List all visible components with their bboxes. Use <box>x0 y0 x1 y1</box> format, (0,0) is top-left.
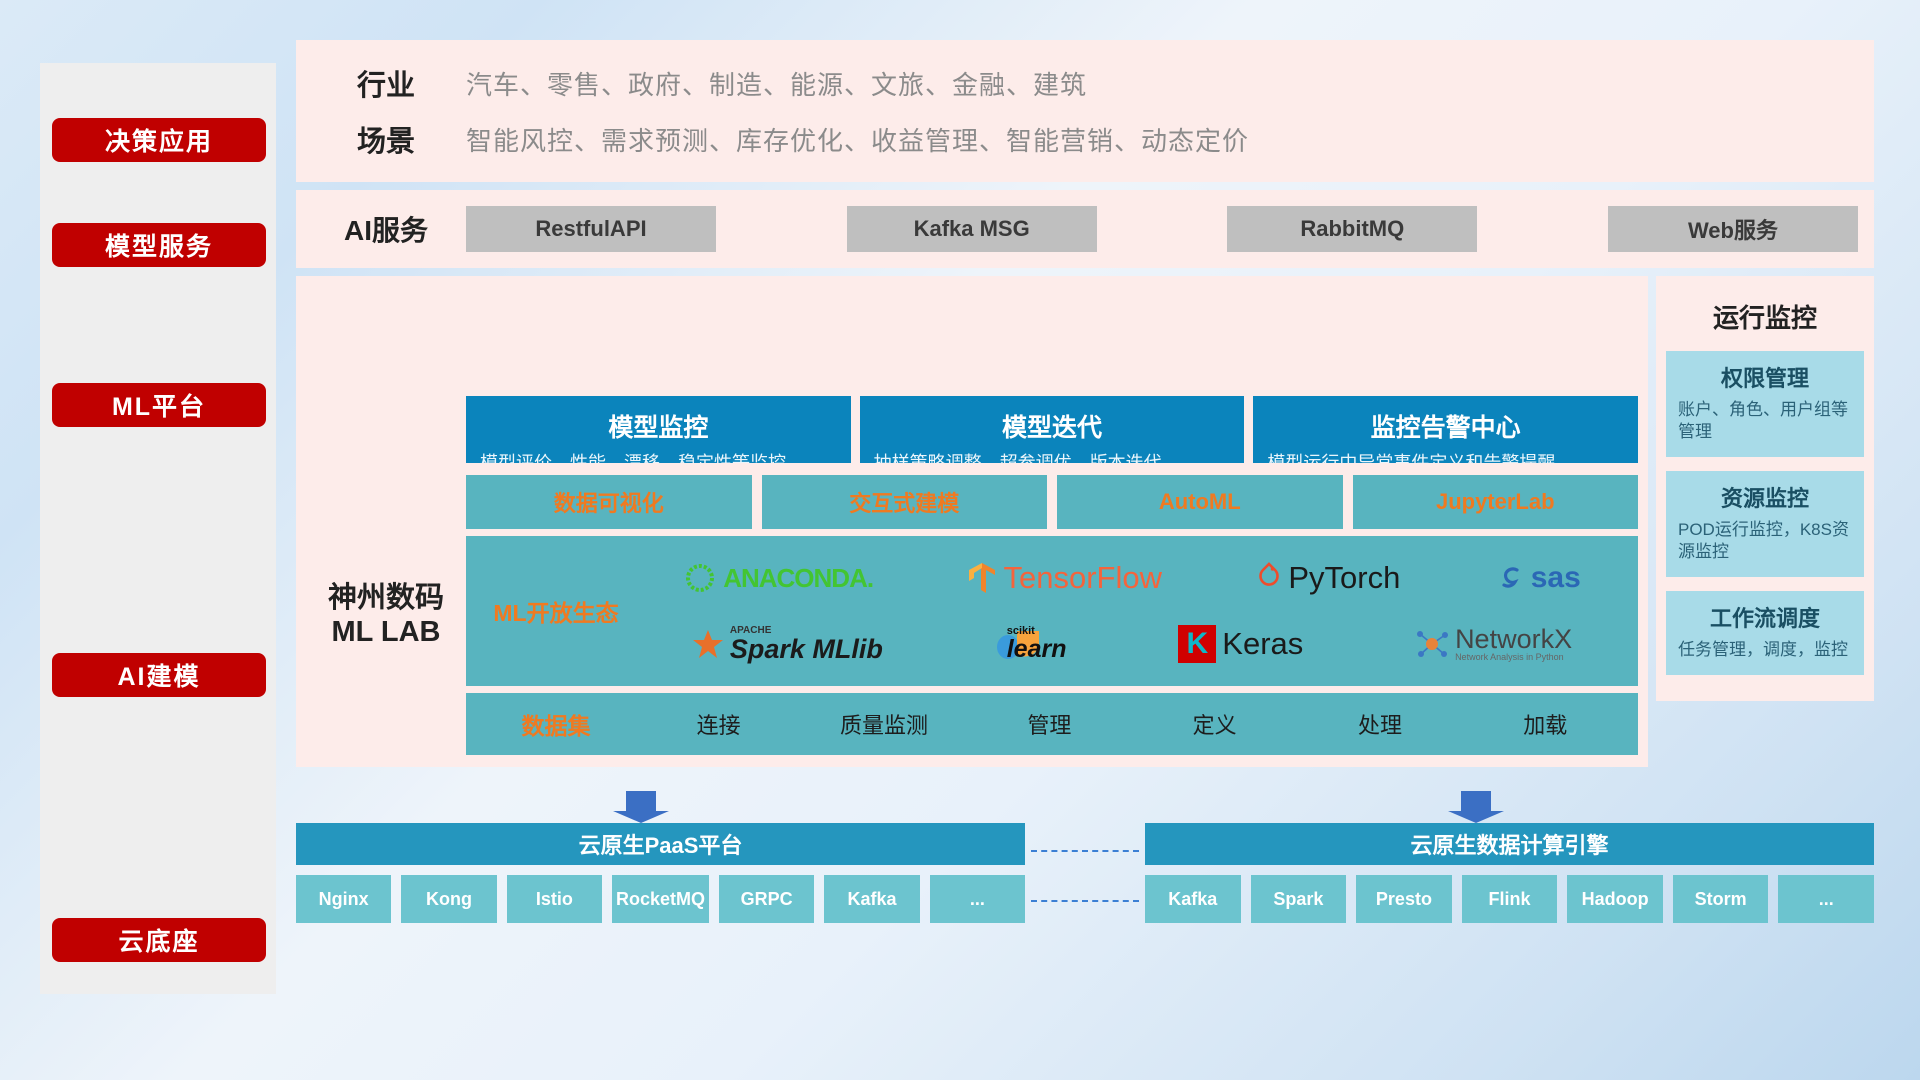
chip-hadoop[interactable]: Hadoop <box>1567 875 1663 923</box>
cloud-bar-row: 云原生PaaS平台 云原生数据计算引擎 <box>296 823 1874 865</box>
chip-more-right[interactable]: ... <box>1778 875 1874 923</box>
ml-lab-label-line2: ML LAB <box>306 615 466 650</box>
chip-spark[interactable]: Spark <box>1251 875 1347 923</box>
modeling-row-spacer <box>1656 463 1874 767</box>
tensorflow-logo-text: TensorFlow <box>1003 560 1162 596</box>
dataset-item-connect[interactable]: 连接 <box>636 708 801 740</box>
dataset-item-process[interactable]: 处理 <box>1297 708 1462 740</box>
dataset-item-load[interactable]: 加载 <box>1463 708 1628 740</box>
card-title: 权限管理 <box>1678 361 1852 393</box>
chip-kafka-right[interactable]: Kafka <box>1145 875 1241 923</box>
pytorch-logo-text: PyTorch <box>1288 560 1400 596</box>
service-chip-restfulapi[interactable]: RestfulAPI <box>466 206 716 252</box>
ai-service-label: AI服务 <box>306 209 466 249</box>
cloud-chip-row: Nginx Kong Istio RocketMQ GRPC Kafka ...… <box>296 865 1874 923</box>
chip-presto[interactable]: Presto <box>1356 875 1452 923</box>
decision-application-band: 行业 汽车、零售、政府、制造、能源、文旅、金融、建筑 场景 智能风控、需求预测、… <box>296 40 1874 182</box>
sas-icon <box>1495 563 1525 593</box>
keras-logo: K Keras <box>1178 625 1303 663</box>
learn-text: learn <box>1007 637 1067 662</box>
service-chip-kafka-msg[interactable]: Kafka MSG <box>847 206 1097 252</box>
industry-row: 行业 汽车、零售、政府、制造、能源、文旅、金融、建筑 <box>306 62 1864 104</box>
dashed-arrow-right <box>1031 850 1139 852</box>
data-engine-chip-list: Kafka Spark Presto Flink Hadoop Storm ..… <box>1145 875 1874 923</box>
card-title: 模型迭代 <box>874 408 1231 444</box>
anaconda-icon <box>683 561 717 595</box>
anaconda-logo: ANACONDA. <box>683 561 873 595</box>
dataset-item-manage[interactable]: 管理 <box>967 708 1132 740</box>
networkx-logo: NetworkX Network Analysis in Python <box>1415 626 1572 662</box>
chip-flink[interactable]: Flink <box>1462 875 1558 923</box>
ecosystem-logo-grid: ANACONDA. TensorFlow <box>636 547 1628 675</box>
ml-lab-tab-list: 数据可视化 交互式建模 AutoML JupyterLab <box>466 475 1638 529</box>
ai-modeling-row: 神州数码 ML LAB 数据可视化 交互式建模 AutoML JupyterLa… <box>296 463 1874 767</box>
pytorch-logo: PyTorch <box>1256 560 1400 596</box>
scenario-label: 场景 <box>306 118 466 160</box>
chip-grpc[interactable]: GRPC <box>719 875 814 923</box>
dataset-item-define[interactable]: 定义 <box>1132 708 1297 740</box>
layer-tag-decision-app[interactable]: 决策应用 <box>52 118 266 162</box>
card-desc: 账户、角色、用户组等管理 <box>1678 399 1852 443</box>
industry-value: 汽车、零售、政府、制造、能源、文旅、金融、建筑 <box>466 65 1087 102</box>
keras-logo-text: Keras <box>1222 626 1303 662</box>
architecture-stack: 行业 汽车、零售、政府、制造、能源、文旅、金融、建筑 场景 智能风控、需求预测、… <box>276 40 1874 1034</box>
ml-lab-label: 神州数码 ML LAB <box>306 581 466 651</box>
service-chip-rabbitmq[interactable]: RabbitMQ <box>1227 206 1477 252</box>
networkx-wordmark: NetworkX Network Analysis in Python <box>1455 626 1572 662</box>
layer-tag-label: ML平台 <box>112 387 206 423</box>
spark-mllib-text: Spark MLlib <box>730 636 883 663</box>
ecosystem-logo-row-1: ANACONDA. TensorFlow <box>636 547 1628 609</box>
ml-open-ecosystem: ML开放生态 ANACONDA. <box>466 536 1638 686</box>
cloud-bar-paas[interactable]: 云原生PaaS平台 <box>296 823 1025 865</box>
spark-mllib-logo: APACHE Spark MLlib <box>692 626 883 663</box>
monitoring-header: 运行监控 <box>1713 298 1817 335</box>
dataset-bar: 数据集 连接 质量监测 管理 定义 处理 加载 <box>466 693 1638 755</box>
layer-tag-label: 决策应用 <box>105 122 213 158</box>
tab-data-visualization[interactable]: 数据可视化 <box>466 475 752 529</box>
dataset-item-quality[interactable]: 质量监测 <box>801 708 966 740</box>
spark-star-icon <box>692 629 724 659</box>
tab-automl[interactable]: AutoML <box>1057 475 1343 529</box>
arrow-row <box>296 789 1874 823</box>
chip-kong[interactable]: Kong <box>401 875 496 923</box>
spark-wordmark: APACHE Spark MLlib <box>730 626 883 663</box>
layer-tag-label: 模型服务 <box>105 227 213 263</box>
networkx-logo-text: NetworkX <box>1455 626 1572 653</box>
architecture-diagram: 决策应用 模型服务 ML平台 AI建模 云底座 行业 汽车、零售、政府、制造、能… <box>0 0 1920 1080</box>
networkx-subtitle: Network Analysis in Python <box>1455 653 1572 662</box>
dashed-arrow-left <box>1031 900 1139 902</box>
scenario-row: 场景 智能风控、需求预测、库存优化、收益管理、智能营销、动态定价 <box>306 118 1864 160</box>
paas-chip-list: Nginx Kong Istio RocketMQ GRPC Kafka ... <box>296 875 1025 923</box>
tensorflow-icon <box>967 561 997 595</box>
ai-service-chip-list: RestfulAPI Kafka MSG RabbitMQ Web服务 <box>466 206 1864 252</box>
dataset-item-list: 连接 质量监测 管理 定义 处理 加载 <box>636 708 1628 740</box>
layer-label-rail: 决策应用 模型服务 ML平台 AI建模 云底座 <box>40 63 276 994</box>
scenario-value: 智能风控、需求预测、库存优化、收益管理、智能营销、动态定价 <box>466 121 1249 158</box>
ecosystem-label: ML开放生态 <box>476 594 636 628</box>
layer-tag-ai-modeling[interactable]: AI建模 <box>52 653 266 697</box>
ml-lab-label-line1: 神州数码 <box>306 581 466 616</box>
layer-tag-ml-platform[interactable]: ML平台 <box>52 383 266 427</box>
pytorch-icon <box>1256 561 1282 595</box>
layer-tag-label: AI建模 <box>117 657 200 693</box>
chip-rocketmq[interactable]: RocketMQ <box>612 875 709 923</box>
keras-icon: K <box>1178 625 1216 663</box>
chip-nginx[interactable]: Nginx <box>296 875 391 923</box>
tab-jupyterlab[interactable]: JupyterLab <box>1353 475 1639 529</box>
chip-more-left[interactable]: ... <box>930 875 1025 923</box>
chip-istio[interactable]: Istio <box>507 875 602 923</box>
cloud-base-row: 云原生PaaS平台 云原生数据计算引擎 Nginx Kong Istio Roc… <box>296 789 1874 923</box>
tensorflow-logo: TensorFlow <box>967 560 1162 596</box>
card-title: 监控告警中心 <box>1267 408 1624 444</box>
tab-interactive-modeling[interactable]: 交互式建模 <box>762 475 1048 529</box>
layer-tag-model-service[interactable]: 模型服务 <box>52 223 266 267</box>
model-service-band: AI服务 RestfulAPI Kafka MSG RabbitMQ Web服务 <box>296 190 1874 268</box>
scikit-learn-wordmark: scikit learn <box>1007 626 1067 662</box>
ml-lab-content: 数据可视化 交互式建模 AutoML JupyterLab ML开放生态 <box>466 475 1638 755</box>
scikit-learn-logo: scikit learn <box>995 626 1067 662</box>
card-title: 模型监控 <box>480 408 837 444</box>
connector-arrows <box>296 789 1874 823</box>
dataset-label: 数据集 <box>476 707 636 741</box>
ecosystem-logo-row-2: APACHE Spark MLlib <box>636 613 1628 675</box>
layer-tag-label: 云底座 <box>118 922 199 958</box>
service-chip-web-service[interactable]: Web服务 <box>1608 206 1858 252</box>
layer-tag-cloud-base[interactable]: 云底座 <box>52 918 266 962</box>
chip-kafka-left[interactable]: Kafka <box>824 875 919 923</box>
chip-storm[interactable]: Storm <box>1673 875 1769 923</box>
cloud-bar-data-engine[interactable]: 云原生数据计算引擎 <box>1145 823 1874 865</box>
monitor-card-permission[interactable]: 权限管理 账户、角色、用户组等管理 <box>1666 351 1864 457</box>
industry-label: 行业 <box>306 62 466 104</box>
sas-logo: sas <box>1495 561 1581 595</box>
ml-lab-band: 神州数码 ML LAB 数据可视化 交互式建模 AutoML JupyterLa… <box>296 463 1648 767</box>
sas-logo-text: sas <box>1531 561 1581 595</box>
networkx-icon <box>1415 628 1449 660</box>
anaconda-logo-text: ANACONDA. <box>723 563 873 594</box>
